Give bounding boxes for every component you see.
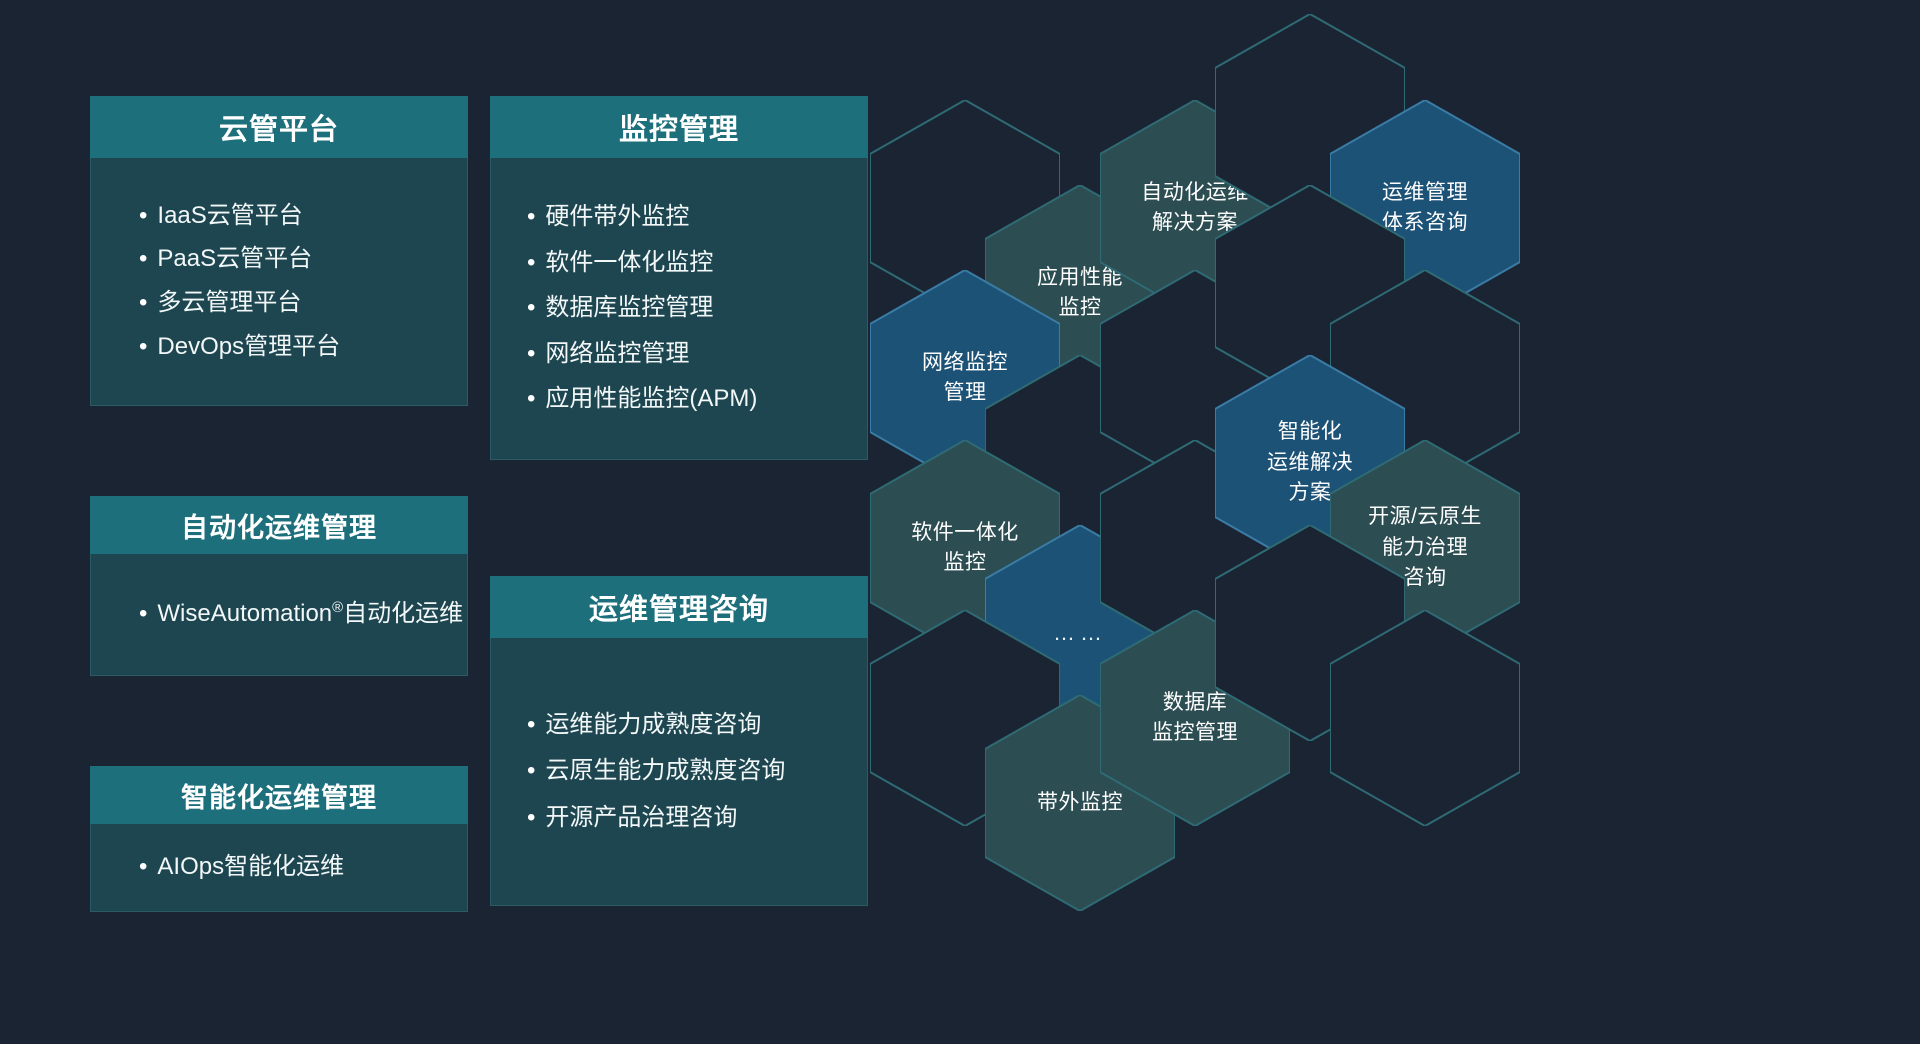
list-item: •开源产品治理咨询 <box>527 802 867 835</box>
hexagon-label-line: 管理 <box>944 378 987 408</box>
hexagon-label-line: 咨询 <box>1404 563 1447 593</box>
bullet-icon: • <box>527 709 535 742</box>
list-item-label: DevOps管理平台 <box>157 331 467 364</box>
hexagon-label-line: 监控 <box>1059 293 1102 323</box>
bullet-icon: • <box>527 247 535 280</box>
capability-card-list: 云管平台•IaaS云管平台•PaaS云管平台•多云管理平台•DevOps管理平台… <box>0 0 900 1044</box>
list-item: •硬件带外监控 <box>527 201 867 234</box>
card-item-list: •运维能力成熟度咨询•云原生能力成熟度咨询•开源产品治理咨询 <box>527 695 867 849</box>
card-cloud-platform: 云管平台•IaaS云管平台•PaaS云管平台•多云管理平台•DevOps管理平台 <box>90 96 468 406</box>
card-body-monitoring-management: •硬件带外监控•软件一体化监控•数据库监控管理•网络监控管理•应用性能监控(AP… <box>490 158 868 460</box>
card-item-list: •WiseAutomation®自动化运维 <box>139 598 467 631</box>
bullet-icon: • <box>139 598 147 631</box>
card-item-list: •IaaS云管平台•PaaS云管平台•多云管理平台•DevOps管理平台 <box>139 189 467 375</box>
list-item-label: 软件一体化监控 <box>545 247 853 280</box>
card-title-cloud-platform: 云管平台 <box>90 96 468 158</box>
card-item-list: •硬件带外监控•软件一体化监控•数据库监控管理•网络监控管理•应用性能监控(AP… <box>527 188 867 429</box>
list-item-label: 应用性能监控(APM) <box>545 383 853 416</box>
bullet-icon: • <box>527 802 535 835</box>
list-item-label: 网络监控管理 <box>545 338 853 371</box>
list-item-label: 开源产品治理咨询 <box>545 802 851 835</box>
card-title-automation-ops-management: 自动化运维管理 <box>90 496 468 554</box>
list-item-label: IaaS云管平台 <box>157 200 467 233</box>
hexagon-label-line: 方案 <box>1289 478 1332 508</box>
list-item-label: 运维能力成熟度咨询 <box>545 709 851 742</box>
bullet-icon: • <box>527 292 535 325</box>
list-item: •运维能力成熟度咨询 <box>527 709 867 742</box>
card-body-ops-management-consulting: •运维能力成熟度咨询•云原生能力成熟度咨询•开源产品治理咨询 <box>490 638 868 906</box>
bullet-icon: • <box>527 383 535 416</box>
list-item: •PaaS云管平台 <box>139 243 467 276</box>
card-automation-ops-management: 自动化运维管理•WiseAutomation®自动化运维 <box>90 496 468 676</box>
hexagon-label-line: 监控 <box>944 548 987 578</box>
list-item: •WiseAutomation®自动化运维 <box>139 598 467 631</box>
list-item: •云原生能力成熟度咨询 <box>527 755 867 788</box>
card-monitoring-management: 监控管理•硬件带外监控•软件一体化监控•数据库监控管理•网络监控管理•应用性能监… <box>490 96 868 460</box>
list-item-label: PaaS云管平台 <box>157 243 467 276</box>
list-item-label: 硬件带外监控 <box>545 201 853 234</box>
card-aiops-management: 智能化运维管理•AIOps智能化运维 <box>90 766 468 912</box>
card-ops-management-consulting: 运维管理咨询•运维能力成熟度咨询•云原生能力成熟度咨询•开源产品治理咨询 <box>490 576 868 906</box>
card-body-aiops-management: •AIOps智能化运维 <box>90 824 468 912</box>
card-title-monitoring-management: 监控管理 <box>490 96 868 158</box>
bullet-icon: • <box>527 201 535 234</box>
bullet-icon: • <box>139 287 147 320</box>
hex-empty-10 <box>1330 610 1520 826</box>
list-item: •AIOps智能化运维 <box>139 851 467 884</box>
list-item: •DevOps管理平台 <box>139 331 467 364</box>
registered-trademark-icon: ® <box>332 600 343 616</box>
card-body-cloud-platform: •IaaS云管平台•PaaS云管平台•多云管理平台•DevOps管理平台 <box>90 158 468 406</box>
list-item-label: WiseAutomation®自动化运维 <box>157 598 467 631</box>
infographic-canvas: 云管平台•IaaS云管平台•PaaS云管平台•多云管理平台•DevOps管理平台… <box>0 0 1920 1044</box>
hexagon-label-line: …… <box>1053 617 1107 649</box>
hexagon-diagram: 应用性能监控自动化运维解决方案运维管理体系咨询网络监控管理软件一体化监控……智能… <box>930 0 1920 1044</box>
list-item: •应用性能监控(APM) <box>527 383 867 416</box>
bullet-icon: • <box>527 755 535 788</box>
list-item-label: 多云管理平台 <box>157 287 467 320</box>
list-item-label: AIOps智能化运维 <box>157 851 467 884</box>
list-item: •多云管理平台 <box>139 287 467 320</box>
list-item-label: 云原生能力成熟度咨询 <box>545 755 851 788</box>
list-item: •软件一体化监控 <box>527 247 867 280</box>
card-title-ops-management-consulting: 运维管理咨询 <box>490 576 868 638</box>
hexagon-label <box>1330 610 1520 826</box>
list-item-label: 数据库监控管理 <box>545 292 853 325</box>
list-item: •IaaS云管平台 <box>139 200 467 233</box>
bullet-icon: • <box>139 200 147 233</box>
card-item-list: •AIOps智能化运维 <box>139 851 467 884</box>
bullet-icon: • <box>527 338 535 371</box>
bullet-icon: • <box>139 243 147 276</box>
bullet-icon: • <box>139 331 147 364</box>
bullet-icon: • <box>139 851 147 884</box>
list-item: •网络监控管理 <box>527 338 867 371</box>
card-title-aiops-management: 智能化运维管理 <box>90 766 468 824</box>
card-body-automation-ops-management: •WiseAutomation®自动化运维 <box>90 554 468 676</box>
list-item: •数据库监控管理 <box>527 292 867 325</box>
